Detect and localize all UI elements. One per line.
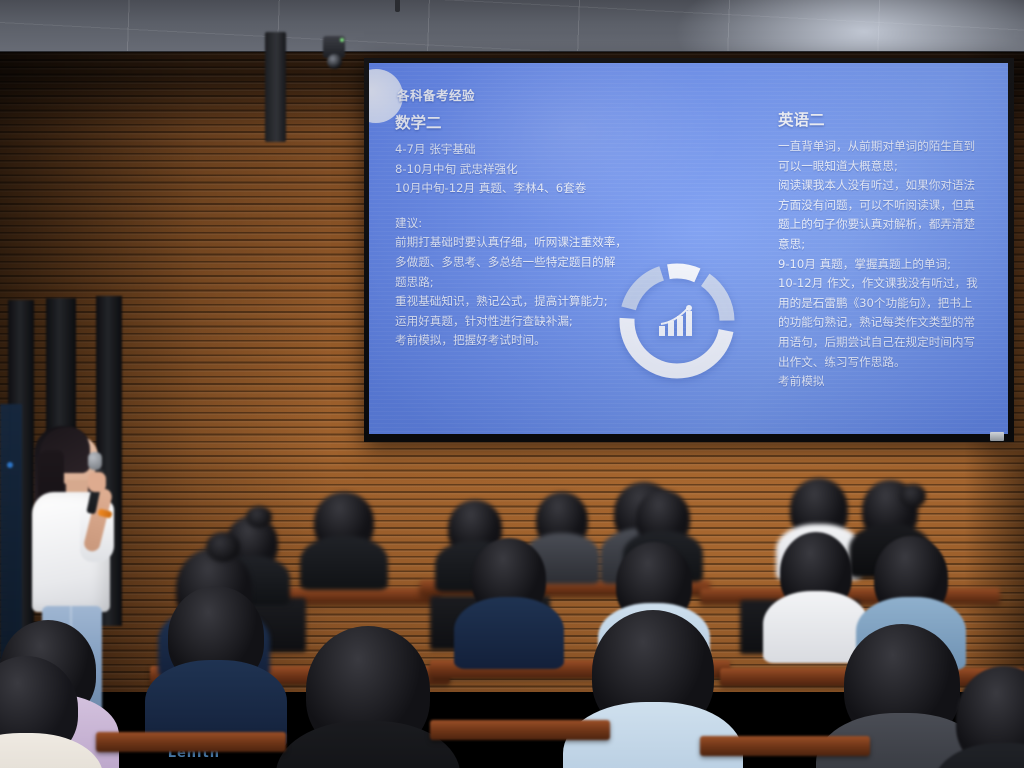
right-line: 考前模拟 xyxy=(778,372,1006,392)
screen-indicator-icon xyxy=(990,432,1004,441)
advice-line: 运用好真题，针对性进行查缺补漏; xyxy=(395,312,645,332)
slide-column-right: 英语二 一直背单词，从前期对单词的陌生直到 可以一眼知道大概意思; 阅读课我本人… xyxy=(778,112,1006,392)
left-line: 8-10月中旬 武忠祥强化 xyxy=(395,160,645,180)
advice-line: 重视基础知识，熟记公式，提高计算能力; xyxy=(395,292,645,312)
audience-head xyxy=(0,656,78,760)
camera-lens-icon xyxy=(327,54,342,69)
right-line: 用的是石雷鹏《30个功能句》，把书上 xyxy=(778,294,1006,314)
ceiling-hook xyxy=(395,0,400,12)
advice-line: 前期打基础时要认真仔细，听网课注重效率， xyxy=(395,233,645,253)
advice-label: 建议: xyxy=(395,214,645,234)
slide-title: 各科备考经验 xyxy=(397,85,475,104)
right-line: 阅读课我本人没有听过，如果你对语法 xyxy=(778,176,1006,196)
slide-columns: 数学二 4-7月 张宇基础 8-10月中旬 武忠祥强化 10月中旬-12月 真题… xyxy=(369,115,1008,434)
right-line: 题上的句子你要认真对解析，都弄清楚 xyxy=(778,215,1006,235)
audience-head xyxy=(636,490,690,546)
camera-led-icon xyxy=(340,38,344,42)
audience-head: Lenith xyxy=(168,586,264,686)
microphone-head-icon xyxy=(88,452,102,470)
audience-head xyxy=(874,536,948,618)
left-heading: 数学二 xyxy=(395,115,645,132)
left-line: 10月中旬-12月 真题、李林4、6套卷 xyxy=(395,179,645,199)
ceiling-light-glow xyxy=(674,0,1024,58)
audience-head xyxy=(472,538,546,618)
advice-line: 题思路; xyxy=(395,273,645,293)
advice-line: 考前模拟，把握好考试时间。 xyxy=(395,331,645,351)
right-line: 意思; xyxy=(778,235,1006,255)
right-line: 用语句，后期尝试自己在规定时间内写 xyxy=(778,333,1006,353)
audience-head xyxy=(592,610,714,734)
audience-torso xyxy=(300,536,389,590)
audience-head xyxy=(314,492,374,552)
security-camera xyxy=(321,36,347,72)
right-line: 方面没有问题，可以不听阅读课，但真 xyxy=(778,196,1006,216)
bench-row xyxy=(700,736,870,756)
audience: Lenith arthes xyxy=(0,470,1024,768)
spacer xyxy=(395,199,645,214)
right-line: 的功能句熟记，熟记每类作文类型的常 xyxy=(778,313,1006,333)
right-line: 可以一眼知道大概意思; xyxy=(778,157,1006,177)
hair-bun xyxy=(246,506,272,528)
audience-head xyxy=(790,478,848,540)
left-line: 4-7月 张宇基础 xyxy=(395,140,645,160)
wall-speaker xyxy=(265,32,286,142)
bench-row xyxy=(96,732,286,752)
hair-bun xyxy=(900,484,926,508)
bench-row xyxy=(430,720,610,740)
right-line: 9-10月 真题，掌握真题上的单词; xyxy=(778,255,1006,275)
panel-indicator-icon xyxy=(7,462,13,468)
slide-column-left: 数学二 4-7月 张宇基础 8-10月中旬 武忠祥强化 10月中旬-12月 真题… xyxy=(395,115,645,351)
projection-screen-frame: 各科备考经验 数学二 4-7月 张宇基础 8-10月中旬 武忠祥强化 10月中旬… xyxy=(364,58,1014,442)
audience-head: arthes xyxy=(306,626,430,754)
audience-head xyxy=(780,532,852,612)
audience-head xyxy=(844,624,960,744)
advice-line: 多做题、多思考、多总结一些特定题目的解 xyxy=(395,253,645,273)
right-heading: 英语二 xyxy=(778,112,1006,129)
right-line: 一直背单词，从前期对单词的陌生直到 xyxy=(778,137,1006,157)
right-line: 10-12月 作文，作文课我没有听过，我 xyxy=(778,274,1006,294)
donut-chart xyxy=(613,257,741,385)
right-line: 出作文、练习写作思路。 xyxy=(778,353,1006,373)
audience-head xyxy=(956,666,1024,768)
ceiling xyxy=(0,0,1024,58)
lecture-hall-scene: 各科备考经验 数学二 4-7月 张宇基础 8-10月中旬 武忠祥强化 10月中旬… xyxy=(0,0,1024,768)
hair-bun xyxy=(206,532,240,562)
bar-chart-growth-icon xyxy=(655,304,699,338)
audience-torso xyxy=(454,597,564,669)
presentation-slide: 各科备考经验 数学二 4-7月 张宇基础 8-10月中旬 武忠祥强化 10月中旬… xyxy=(369,63,1008,434)
